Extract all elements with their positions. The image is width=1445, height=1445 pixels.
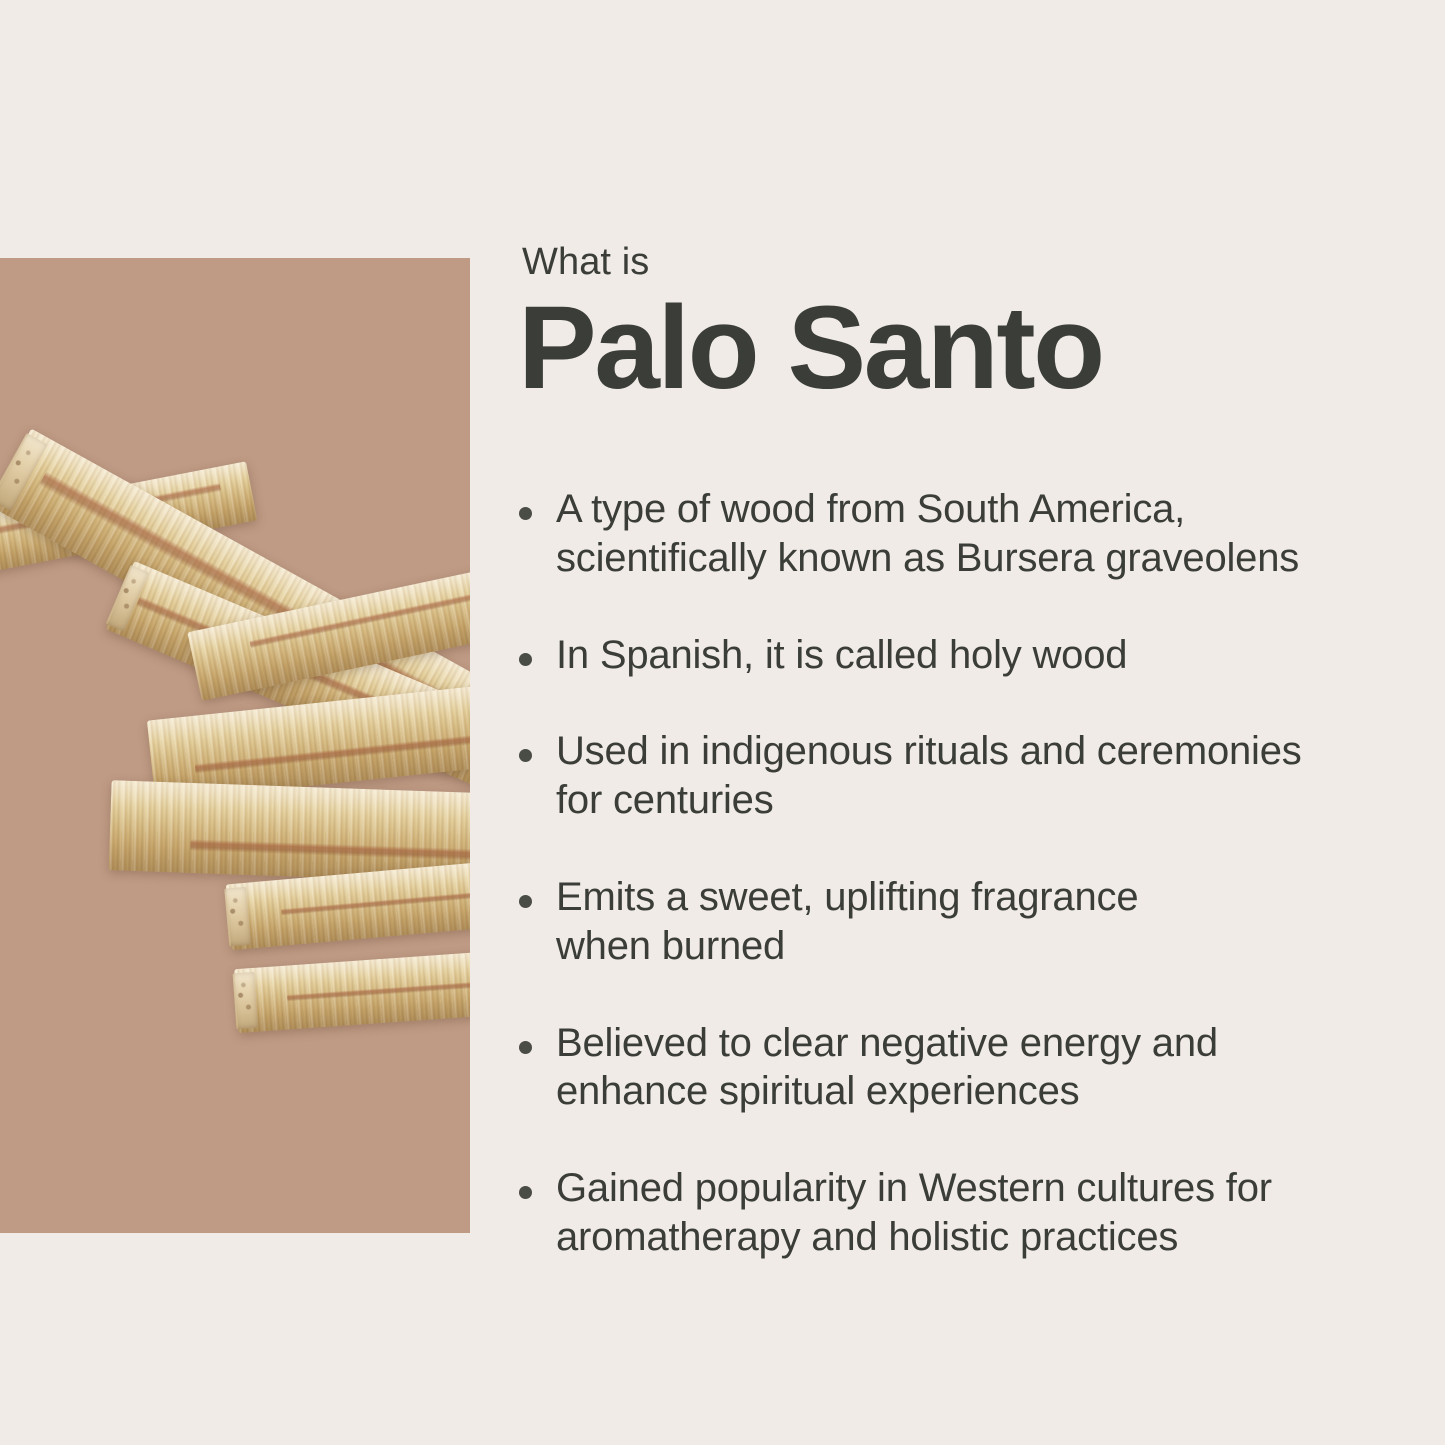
bullet-dot-icon	[519, 895, 532, 908]
eyebrow-label: What is	[522, 243, 1358, 281]
list-item-text: Emits a sweet, uplifting fragrance when …	[556, 873, 1358, 971]
wood-grain-streak	[281, 886, 470, 915]
wood-stick-endcap	[224, 887, 251, 947]
wood-grain-streak	[195, 728, 470, 774]
list-item-text: Used in indigenous rituals and ceremonie…	[556, 727, 1358, 825]
list-item: Used in indigenous rituals and ceremonie…	[518, 727, 1358, 825]
bullet-dot-icon	[519, 1186, 532, 1199]
wood-stick-endcap	[0, 433, 48, 511]
wood-stick	[234, 947, 470, 1033]
wood-stick-endcap	[232, 972, 258, 1029]
list-item: A type of wood from South America, scien…	[518, 485, 1358, 583]
list-item-text: A type of wood from South America, scien…	[556, 485, 1358, 583]
page-title: Palo Santo	[518, 289, 1358, 407]
bullet-dot-icon	[519, 749, 532, 762]
palo-santo-photo-panel	[0, 258, 470, 1233]
wood-grain-streak	[190, 839, 470, 863]
list-item-text: In Spanish, it is called holy wood	[556, 631, 1358, 680]
wood-grain-streak	[287, 978, 470, 1002]
list-item-text: Gained popularity in Western cultures fo…	[556, 1164, 1358, 1262]
wood-stick-endcap	[106, 565, 149, 632]
list-item: Gained popularity in Western cultures fo…	[518, 1164, 1358, 1262]
fact-list: A type of wood from South America, scien…	[518, 485, 1358, 1262]
bullet-dot-icon	[519, 653, 532, 666]
list-item: Believed to clear negative energy and en…	[518, 1019, 1358, 1117]
bullet-dot-icon	[519, 1041, 532, 1054]
list-item-text: Believed to clear negative energy and en…	[556, 1019, 1358, 1117]
list-item: Emits a sweet, uplifting fragrance when …	[518, 873, 1358, 971]
list-item: In Spanish, it is called holy wood	[518, 631, 1358, 680]
palo-santo-infographic: What is Palo Santo A type of wood from S…	[0, 0, 1445, 1445]
content-column: What is Palo Santo A type of wood from S…	[518, 243, 1358, 1262]
bullet-dot-icon	[519, 507, 532, 520]
